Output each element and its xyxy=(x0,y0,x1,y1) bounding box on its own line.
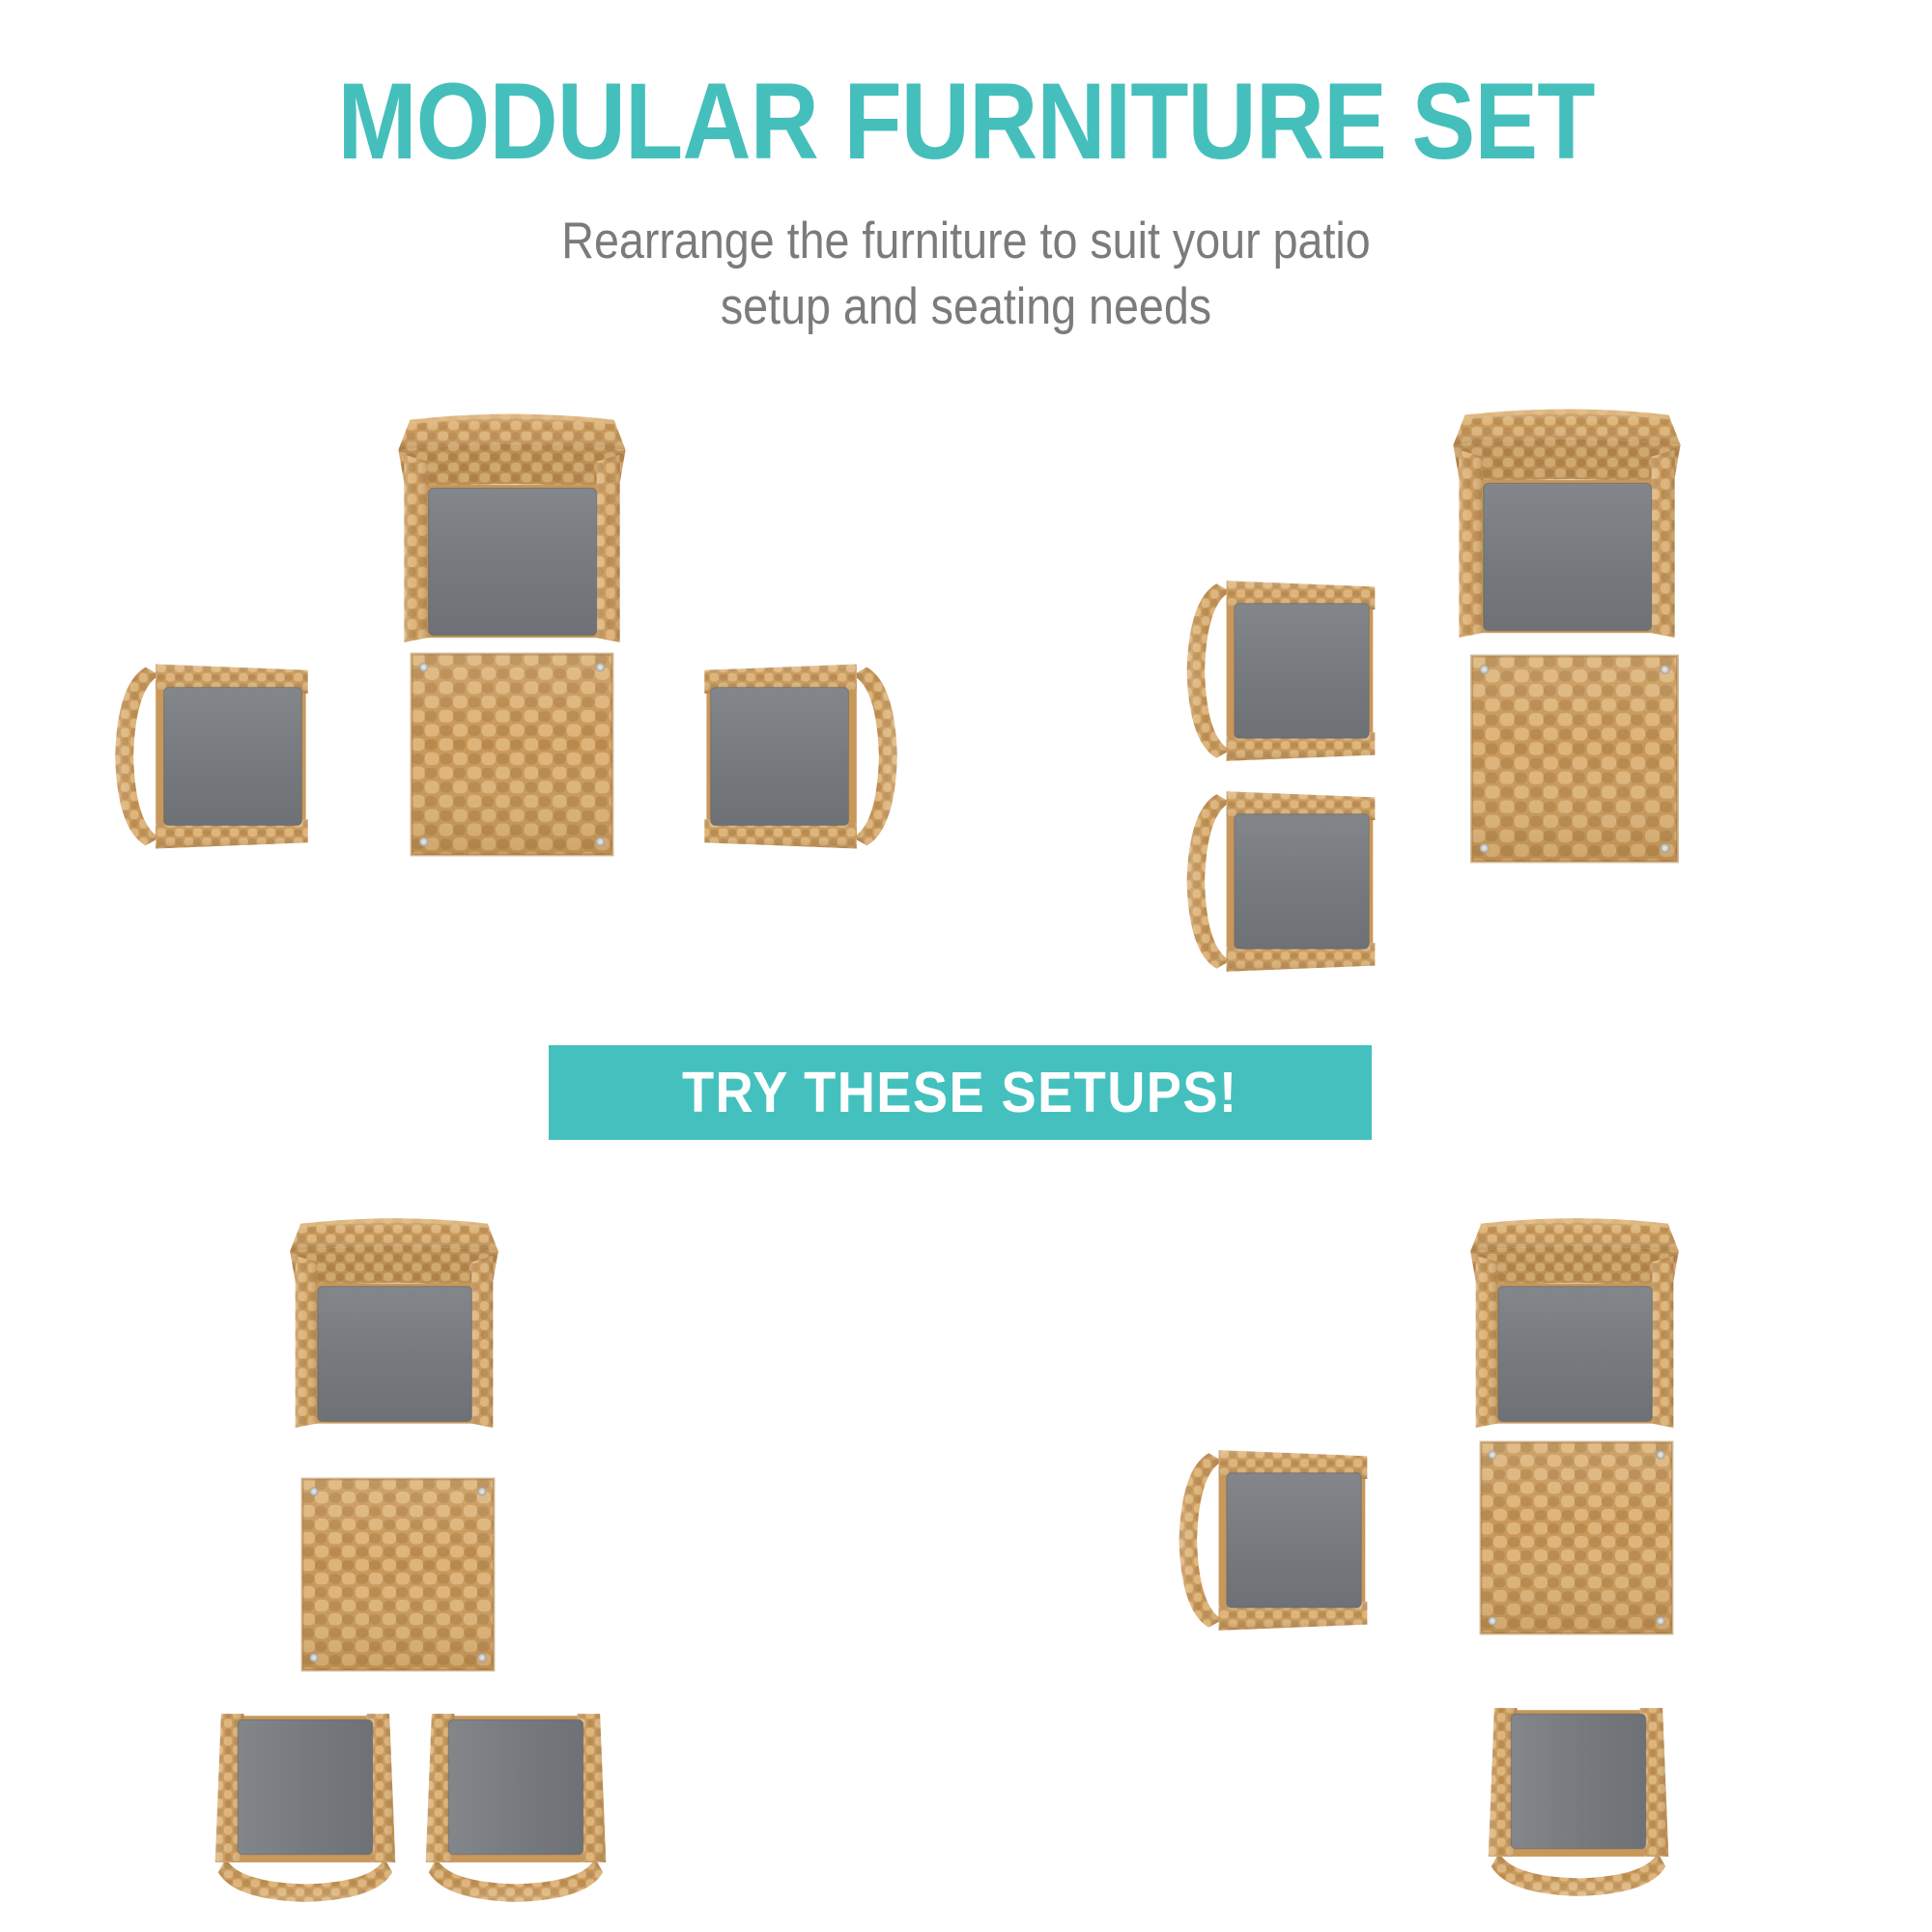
infographic-page: MODULAR FURNITURE SET Rearrange the furn… xyxy=(0,0,1932,1932)
arrangement-4-coffee-table xyxy=(1403,1441,1750,1634)
arrangement-3-chair-left xyxy=(207,1707,405,1908)
arrangement-2-chair-lower-left xyxy=(1180,782,1383,980)
arrangement-4-chair-left xyxy=(1174,1441,1375,1639)
arrangement-3-coffee-table xyxy=(224,1478,572,1671)
arrangement-1-chair-left xyxy=(106,655,319,858)
arrangement-2-coffee-table xyxy=(1401,655,1748,863)
arrangement-3-chair-right xyxy=(417,1707,615,1908)
arrangement-2-chair-upper-left xyxy=(1180,572,1383,770)
arrangement-3-sofa xyxy=(220,1215,568,1428)
arrangement-1-coffee-table xyxy=(333,653,691,856)
page-subtitle: Rearrange the furniture to suit your pat… xyxy=(116,209,1816,340)
arrangement-4-chair-bottom xyxy=(1480,1701,1678,1902)
arrangement-2-sofa xyxy=(1388,406,1746,638)
arrangement-4-sofa xyxy=(1401,1215,1748,1428)
page-title: MODULAR FURNITURE SET xyxy=(116,68,1816,176)
header: MODULAR FURNITURE SET Rearrange the furn… xyxy=(0,0,1932,340)
try-these-setups-banner: TRY THESE SETUPS! xyxy=(549,1045,1372,1140)
banner-label: TRY THESE SETUPS! xyxy=(682,1060,1237,1125)
arrangement-1-sofa xyxy=(328,411,696,642)
arrangement-1-chair-right xyxy=(694,655,906,858)
